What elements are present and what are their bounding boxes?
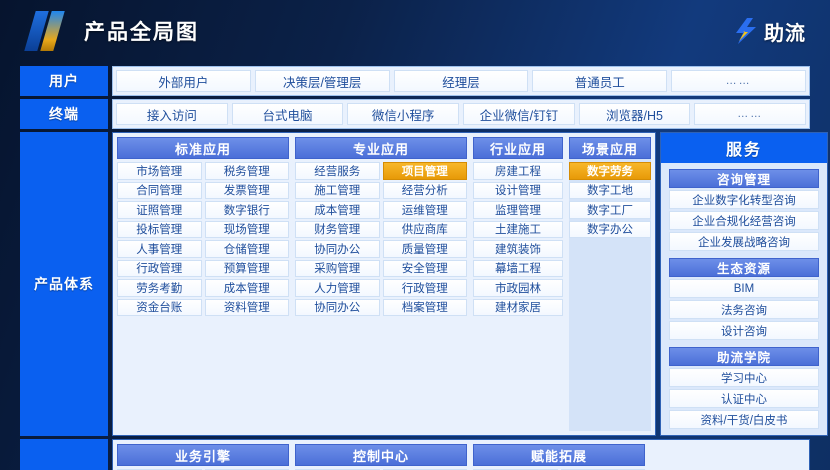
product-system-body: 标准应用 市场管理 合同管理 证照管理 投标管理 人事管理 行政管理 劳务考勤 … (112, 132, 828, 436)
list-item[interactable]: 运维管理 (383, 201, 468, 219)
list-item[interactable]: 档案管理 (383, 299, 468, 317)
column-standard-apps: 标准应用 市场管理 合同管理 证照管理 投标管理 人事管理 行政管理 劳务考勤 … (117, 137, 289, 431)
service-panel: 服务 咨询管理 企业数字化转型咨询 企业合规化经营咨询 企业发展战略咨询 生态资… (660, 132, 828, 436)
list-item[interactable]: 浏览器/H5 (579, 103, 691, 125)
list-item[interactable]: 决策层/管理层 (255, 70, 390, 92)
column-header: 场景应用 (569, 137, 651, 159)
list-item[interactable]: 施工管理 (295, 182, 380, 200)
list-item[interactable]: 土建施工 (473, 221, 563, 239)
list-item[interactable]: 企业微信/钉钉 (463, 103, 575, 125)
list-item[interactable]: 财务管理 (295, 221, 380, 239)
brand-logo-group: 助流 (736, 17, 806, 46)
list-item[interactable]: 仓储管理 (205, 240, 290, 258)
list-item[interactable]: 供应商库 (383, 221, 468, 239)
list-item[interactable]: 设计咨询 (669, 321, 819, 340)
list-item[interactable]: 普通员工 (532, 70, 667, 92)
list-item[interactable]: 市场管理 (117, 162, 202, 180)
row-device: 终端 接入访问 台式电脑 微信小程序 企业微信/钉钉 浏览器/H5 …… (20, 99, 810, 129)
subcolumn: 经营服务 施工管理 成本管理 财务管理 协同办公 采购管理 人力管理 协同办公 (295, 162, 380, 431)
row-label-product-system: 产品体系 (20, 132, 108, 436)
service-group-consulting: 咨询管理 企业数字化转型咨询 企业合规化经营咨询 企业发展战略咨询 (669, 169, 819, 251)
list-item[interactable]: 资料管理 (205, 299, 290, 317)
list-item[interactable]: 投标管理 (117, 221, 202, 239)
list-item[interactable]: 建材家居 (473, 299, 563, 317)
applications-panel: 标准应用 市场管理 合同管理 证照管理 投标管理 人事管理 行政管理 劳务考勤 … (112, 132, 656, 436)
row-product-system: 产品体系 标准应用 市场管理 合同管理 证照管理 投标管理 人事管理 行政管理 (20, 132, 810, 436)
list-item[interactable]: 成本管理 (295, 201, 380, 219)
list-item-more[interactable]: …… (671, 70, 806, 92)
list-item[interactable]: 市政园林 (473, 279, 563, 297)
slash-bars-logo (26, 11, 70, 51)
list-item[interactable]: 质量管理 (383, 240, 468, 258)
list-item[interactable]: 安全管理 (383, 260, 468, 278)
list-item[interactable]: 税务管理 (205, 162, 290, 180)
row-label-rnd-support: 研发支撑 (20, 439, 108, 470)
list-item[interactable]: 劳务考勤 (117, 279, 202, 297)
row-rnd-support: 研发支撑 业务引擎 门户引擎 流程引擎 搜索引擎 表单引擎 报表引擎 BI引擎 (20, 439, 810, 470)
list-item[interactable]: 采购管理 (295, 260, 380, 278)
list-item[interactable]: 数字工地 (569, 182, 651, 200)
service-group-ecosystem: 生态资源 BIM 法务咨询 设计咨询 (669, 258, 819, 340)
list-item[interactable]: 幕墙工程 (473, 260, 563, 278)
column-scenario-apps: 场景应用 数字劳务 数字工地 数字工厂 数字办公 (569, 137, 651, 431)
row-user-cells: 外部用户 决策层/管理层 经理层 普通员工 …… (112, 66, 810, 96)
list-item[interactable]: 发票管理 (205, 182, 290, 200)
subcolumn: 项目管理 经营分析 运维管理 供应商库 质量管理 安全管理 行政管理 档案管理 (383, 162, 468, 431)
column-header: 专业应用 (295, 137, 467, 159)
list-item[interactable]: 行政管理 (383, 279, 468, 297)
list-item[interactable]: 外部用户 (116, 70, 251, 92)
subcolumn: 税务管理 发票管理 数字银行 现场管理 仓储管理 预算管理 成本管理 资料管理 (205, 162, 290, 431)
list-item-highlighted[interactable]: 数字劳务 (569, 162, 651, 180)
list-item[interactable]: 证照管理 (117, 201, 202, 219)
column-header: 赋能拓展 (473, 444, 645, 466)
list-item[interactable]: 认证中心 (669, 389, 819, 408)
list-item[interactable]: 现场管理 (205, 221, 290, 239)
subcolumn: 市场管理 合同管理 证照管理 投标管理 人事管理 行政管理 劳务考勤 资金台账 (117, 162, 202, 431)
group-header: 咨询管理 (669, 169, 819, 188)
list-item[interactable]: 合同管理 (117, 182, 202, 200)
subcolumn: 房建工程 设计管理 监理管理 土建施工 建筑装饰 幕墙工程 市政园林 建材家居 (473, 162, 563, 431)
list-item[interactable]: 成本管理 (205, 279, 290, 297)
list-item[interactable]: 微信小程序 (347, 103, 459, 125)
list-item[interactable]: 数字办公 (569, 221, 651, 239)
list-item[interactable]: 数字银行 (205, 201, 290, 219)
column-professional-apps: 专业应用 经营服务 施工管理 成本管理 财务管理 协同办公 采购管理 人力管理 … (295, 137, 467, 431)
list-item[interactable]: 房建工程 (473, 162, 563, 180)
column-header: 标准应用 (117, 137, 289, 159)
list-item[interactable]: 企业合规化经营咨询 (669, 211, 819, 230)
list-item[interactable]: 经营服务 (295, 162, 380, 180)
list-item[interactable]: 建筑装饰 (473, 240, 563, 258)
list-item[interactable]: 人事管理 (117, 240, 202, 258)
list-item[interactable]: 资金台账 (117, 299, 202, 317)
list-item[interactable]: 协同办公 (295, 240, 380, 258)
column-empowerment-extension: 赋能拓展 智能助理 打印模板 关联表单 定时任务 提醒设置 组件中心 (473, 444, 645, 470)
column-industry-apps: 行业应用 房建工程 设计管理 监理管理 土建施工 建筑装饰 幕墙工程 市政园林 … (473, 137, 563, 431)
column-control-center: 控制中心 组织架构 数据中心 移动协作 权限体系 消息通知 更多 (295, 444, 467, 470)
list-item[interactable]: 协同办公 (295, 299, 380, 317)
group-header: 助流学院 (669, 347, 819, 366)
column-header: 控制中心 (295, 444, 467, 466)
column-business-engine: 业务引擎 门户引擎 流程引擎 搜索引擎 表单引擎 报表引擎 BI引擎 (117, 444, 289, 470)
list-item-highlighted[interactable]: 项目管理 (383, 162, 468, 180)
list-item[interactable]: 资料/干货/白皮书 (669, 410, 819, 429)
row-label-user: 用户 (20, 66, 108, 96)
column-header: 业务引擎 (117, 444, 289, 466)
service-panel-title: 服务 (661, 133, 827, 163)
list-item[interactable]: 人力管理 (295, 279, 380, 297)
list-item[interactable]: 接入访问 (116, 103, 228, 125)
subcolumn: 数字劳务 数字工地 数字工厂 数字办公 (569, 162, 651, 431)
row-user: 用户 外部用户 决策层/管理层 经理层 普通员工 …… (20, 66, 810, 96)
page-title: 产品全局图 (84, 16, 199, 46)
service-group-academy: 助流学院 学习中心 认证中心 资料/干货/白皮书 (669, 347, 819, 429)
list-item[interactable]: 监理管理 (473, 201, 563, 219)
brand-name: 助流 (764, 17, 806, 46)
list-item[interactable]: 行政管理 (117, 260, 202, 278)
list-item[interactable]: 企业数字化转型咨询 (669, 190, 819, 209)
list-item[interactable]: 预算管理 (205, 260, 290, 278)
list-item[interactable]: 法务咨询 (669, 300, 819, 319)
list-item[interactable]: 学习中心 (669, 368, 819, 387)
rnd-support-body: 业务引擎 门户引擎 流程引擎 搜索引擎 表单引擎 报表引擎 BI引擎 控制中心 (112, 439, 810, 470)
list-item[interactable]: 企业发展战略咨询 (669, 232, 819, 251)
lightning-bolt-icon (736, 18, 758, 44)
list-item[interactable]: BIM (669, 279, 819, 298)
list-item[interactable]: 经营分析 (383, 182, 468, 200)
architecture-diagram: 用户 外部用户 决策层/管理层 经理层 普通员工 …… 终端 接入访问 台式电脑… (20, 66, 810, 458)
column-header: 行业应用 (473, 137, 563, 159)
list-item[interactable]: 数字工厂 (569, 201, 651, 219)
list-item-more[interactable]: …… (694, 103, 806, 125)
row-label-device: 终端 (20, 99, 108, 129)
page-header: 产品全局图 助流 (0, 0, 830, 62)
row-device-cells: 接入访问 台式电脑 微信小程序 企业微信/钉钉 浏览器/H5 …… (112, 99, 810, 129)
list-item[interactable]: 台式电脑 (232, 103, 344, 125)
group-header: 生态资源 (669, 258, 819, 277)
list-item[interactable]: 经理层 (394, 70, 529, 92)
list-item[interactable]: 设计管理 (473, 182, 563, 200)
